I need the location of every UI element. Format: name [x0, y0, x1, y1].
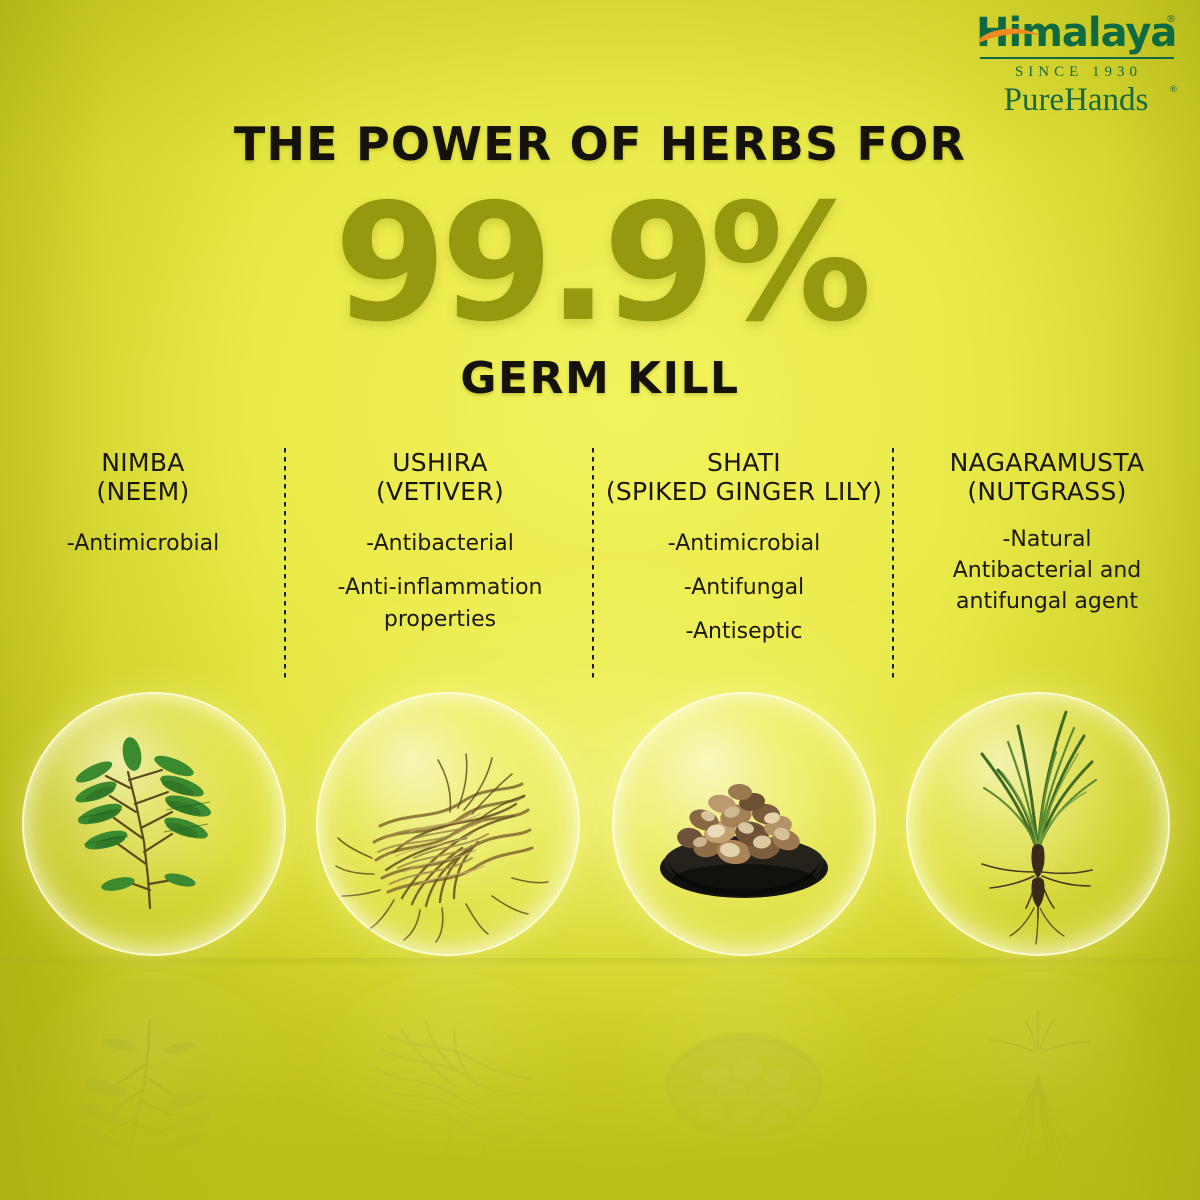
herb-title-nimba: NIMBA (NEEM)	[6, 448, 280, 506]
himalaya-purehands-logo: Himalaya ® SINCE 1930 PureHands ®	[976, 10, 1176, 119]
herb-column-ushira: USHIRA (VETIVER) -Antibacterial -Anti-in…	[286, 448, 594, 680]
vetiver-reflection-icon	[316, 972, 580, 1187]
herb-column-nagaramusta: NAGARAMUSTA (NUTGRASS) -Natural Antibact…	[894, 448, 1200, 680]
headline-percentage: 99.9%	[0, 180, 1200, 348]
neem-reflection-icon	[22, 972, 286, 1187]
rhizome-bowl-reflection-icon	[612, 972, 876, 1187]
headline-block: THE POWER OF HERBS FOR 99.9% GERM KILL	[0, 118, 1200, 404]
registered-mark: ®	[1166, 14, 1176, 25]
purehands-wordmark: PureHands ®	[976, 81, 1176, 119]
herb-title-ushira: USHIRA (VETIVER)	[292, 448, 588, 506]
logo-brand-text: Himalaya	[976, 10, 1176, 56]
logo-product-text: PureHands	[976, 81, 1176, 119]
reflection-shati	[612, 972, 876, 1187]
herb-property: -Antiseptic	[600, 616, 888, 648]
headline-bottom-line: GERM KILL	[0, 354, 1200, 404]
reflection-nimba	[22, 972, 286, 1187]
herb-orb-ushira	[316, 692, 580, 956]
herb-properties-shati: -Antimicrobial -Antifungal -Antiseptic	[600, 528, 888, 648]
himalaya-wordmark: Himalaya ®	[976, 10, 1176, 56]
herb-orb-nimba	[22, 692, 286, 956]
herb-properties-ushira: -Antibacterial -Anti-inflammation proper…	[292, 528, 588, 636]
vetiver-roots-icon	[316, 692, 580, 956]
herb-image-orbs	[0, 692, 1200, 962]
herb-title-shati: SHATI (SPIKED GINGER LILY)	[600, 448, 888, 506]
herb-property: -Antimicrobial	[6, 528, 280, 560]
herb-properties-nagaramusta: -Natural Antibacterial and antifungal ag…	[900, 524, 1194, 617]
reflection-ushira	[316, 972, 580, 1187]
logo-tagline: SINCE 1930	[976, 63, 1176, 81]
herb-column-nimba: NIMBA (NEEM) -Antimicrobial	[0, 448, 286, 680]
neem-leaves-icon	[22, 692, 286, 956]
herb-property: -Antibacterial	[292, 528, 588, 560]
herb-properties-nimba: -Antimicrobial	[6, 528, 280, 560]
herb-orb-nagaramusta	[906, 692, 1170, 956]
herb-title-nagaramusta: NAGARAMUSTA (NUTGRASS)	[900, 448, 1194, 506]
poster-stage: Himalaya ® SINCE 1930 PureHands ® THE PO…	[0, 0, 1200, 1200]
herb-columns: NIMBA (NEEM) -Antimicrobial USHIRA (VETI…	[0, 448, 1200, 680]
orb-reflections	[0, 972, 1200, 1197]
herb-property: -Anti-inflammation properties	[292, 572, 588, 636]
nutgrass-reflection-icon	[906, 972, 1170, 1187]
herb-orb-shati	[612, 692, 876, 956]
headline-top-line: THE POWER OF HERBS FOR	[0, 118, 1200, 170]
herb-property: -Antimicrobial	[600, 528, 888, 560]
nutgrass-plant-icon	[906, 692, 1170, 956]
herb-property: -Antifungal	[600, 572, 888, 604]
herb-property: -Natural Antibacterial and antifungal ag…	[900, 524, 1194, 617]
logo-divider-rule	[980, 57, 1174, 59]
dried-rhizome-bowl-icon	[612, 692, 876, 956]
product-registered-mark: ®	[1169, 85, 1178, 95]
reflection-nagaramusta	[906, 972, 1170, 1187]
herb-column-shati: SHATI (SPIKED GINGER LILY) -Antimicrobia…	[594, 448, 894, 680]
